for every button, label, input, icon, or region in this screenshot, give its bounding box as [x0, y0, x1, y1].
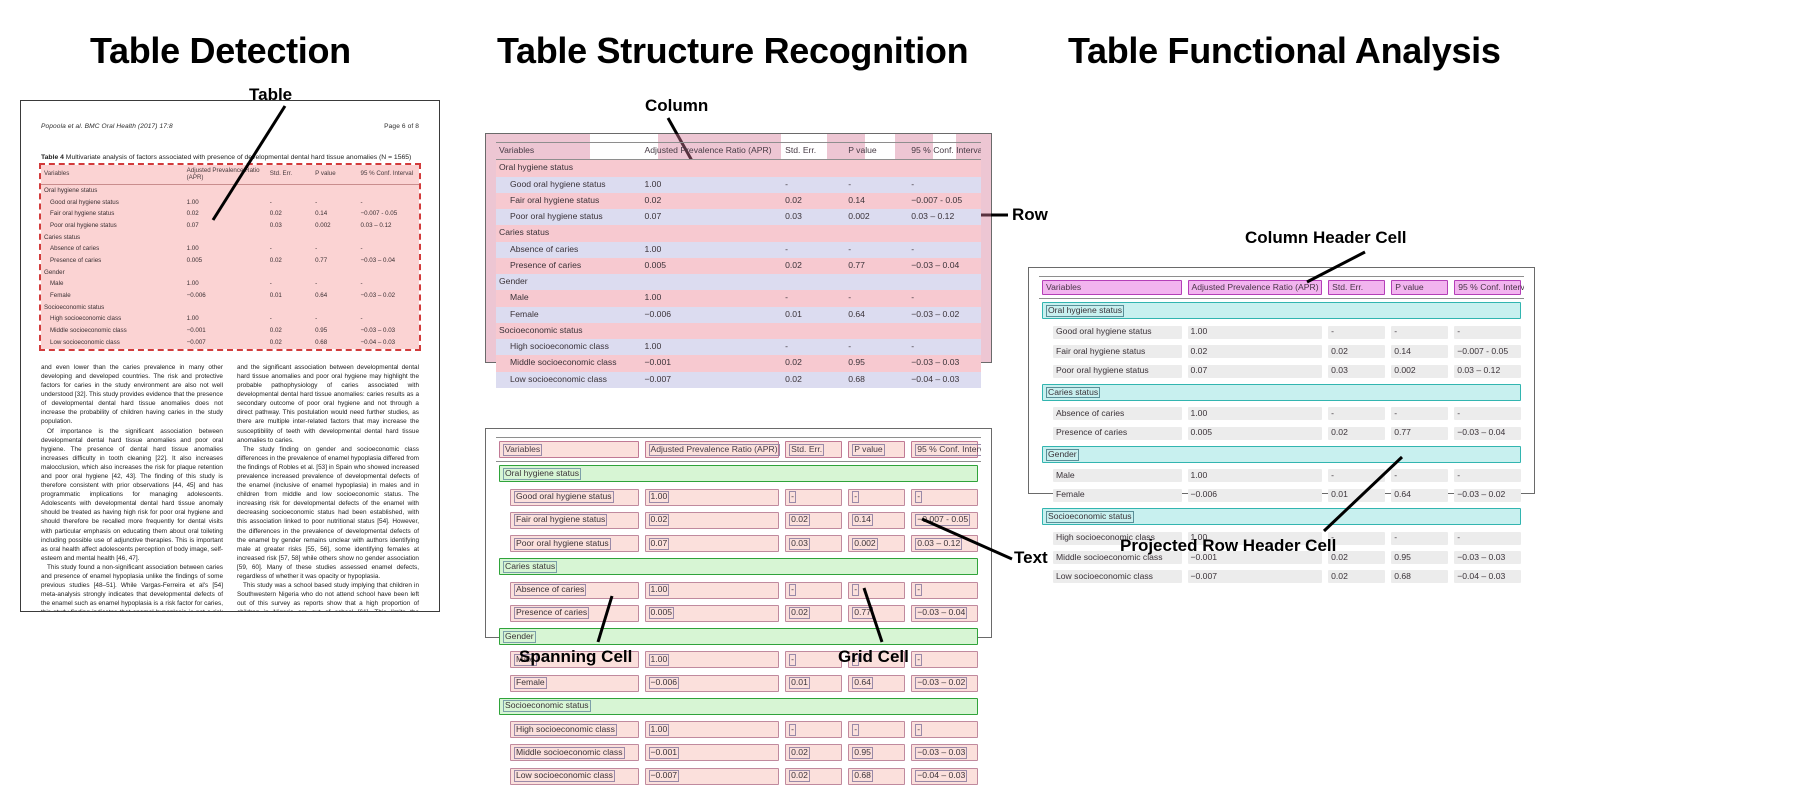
plain-cell-box: 0.02	[1328, 551, 1385, 564]
projected-row-header-cell: Gender	[1039, 443, 1524, 466]
text-cell-box: Presence of caries	[514, 607, 589, 619]
plain-cell-box: -	[1391, 407, 1448, 420]
column-header-cell: P value	[845, 438, 908, 462]
table-cell: 1.00	[185, 314, 268, 326]
table-row: Fair oral hygiene status0.020.020.14−0.0…	[496, 509, 981, 532]
text-cell-box: -	[789, 491, 796, 503]
table-cell: -	[1451, 404, 1524, 423]
table-row: Socioeconomic status	[496, 323, 981, 339]
table-cell: 0.95	[845, 355, 908, 371]
table-row: Absence of caries1.00---	[1039, 404, 1524, 423]
column-header-cell-box: Std. Err.	[1328, 280, 1385, 295]
table-cell: 0.95	[1388, 548, 1451, 567]
table-cell: 0.95	[845, 741, 908, 764]
plain-cell-box: 1.00	[1188, 326, 1323, 339]
table-cell: 1.00	[642, 177, 783, 193]
plain-cell-box: -	[1391, 532, 1448, 545]
table-cell: 0.14	[313, 209, 358, 221]
table-cell: -	[908, 718, 981, 741]
table-cell: 0.02	[782, 355, 845, 371]
plain-cell-box: Female	[1053, 489, 1182, 502]
table-header-row: VariablesAdjusted Prevalence Ratio (APR)…	[41, 165, 419, 184]
table-cell	[845, 274, 908, 290]
table-cell: 0.03 – 0.12	[908, 532, 981, 555]
row-header-cell: Absence of caries	[1039, 404, 1185, 423]
table-cell: 0.03 – 0.12	[359, 220, 420, 232]
structure-cells-grid: VariablesAdjusted Prevalence Ratio (APR)…	[496, 437, 981, 788]
table-cell: -	[313, 314, 358, 326]
table-row: Good oral hygiene status1.00---	[41, 197, 419, 209]
table-cell	[313, 267, 358, 279]
table-cell: 0.77	[845, 258, 908, 274]
table-header-row: VariablesAdjusted Prevalence Ratio (APR)…	[1039, 277, 1524, 299]
table-cell: 0.68	[845, 372, 908, 388]
plain-cell-box: Low socioeconomic class	[1053, 570, 1182, 583]
table-cell	[908, 323, 981, 339]
text-cell-box: Adjusted Prevalence Ratio (APR)	[649, 444, 780, 456]
table-cell: 1.00	[1185, 466, 1326, 485]
table-cell: 1.00	[642, 648, 783, 671]
table-cell: -	[782, 177, 845, 193]
plain-cell-box: 0.77	[1391, 427, 1448, 440]
table-cell: 1.00	[185, 244, 268, 256]
table-cell: 0.02	[268, 337, 313, 349]
row-header-cell: Socioeconomic status	[41, 302, 185, 314]
table-span-row: Caries status	[496, 555, 981, 578]
table-cell: 0.02	[1325, 342, 1388, 361]
table-row: Middle socioeconomic class−0.0010.020.95…	[41, 326, 419, 338]
row-header-cell: Absence of caries	[41, 244, 185, 256]
table-cell: -	[268, 314, 313, 326]
table-cell: -	[1388, 466, 1451, 485]
table-cell	[313, 185, 358, 197]
column-header-cell: Adjusted Prevalence Ratio (APR)	[642, 143, 783, 160]
text-cell-box: Variables	[503, 444, 542, 456]
table-row: Absence of caries1.00---	[496, 579, 981, 602]
table-cell: 0.02	[782, 258, 845, 274]
paragraph: Of importance is the significant associa…	[41, 427, 223, 563]
plain-cell-box: -	[1454, 532, 1521, 545]
grid-cell-box: 0.01	[785, 675, 842, 692]
table-cell	[782, 225, 845, 241]
column-header-cell: P value	[845, 143, 908, 160]
grid-cell-box: -	[848, 721, 905, 738]
table-cell: -	[908, 579, 981, 602]
paper-column-left: and even lower than the caries prevalenc…	[41, 363, 223, 612]
text-cell-box: Socioeconomic status	[503, 700, 591, 712]
plain-cell-box: Fair oral hygiene status	[1053, 345, 1182, 358]
paragraph: This study found a non-significant assoc…	[41, 563, 223, 612]
text-cell-box: Caries status	[503, 561, 557, 573]
text-cell-box: 0.02	[789, 514, 810, 526]
column-header-cell: P value	[313, 165, 358, 184]
column-header-cell-box: Adjusted Prevalence Ratio (APR)	[1188, 280, 1323, 295]
plain-cell-box: −0.007 - 0.05	[1454, 345, 1521, 358]
grid-cell-box: -	[785, 582, 842, 599]
table-row: Male1.00---	[496, 290, 981, 306]
table-cell: 0.002	[313, 220, 358, 232]
table-cell: -	[845, 486, 908, 509]
text-cell-box: Low socioeconomic class	[514, 770, 615, 782]
panel-title-table-functional-analysis: Table Functional Analysis	[1068, 30, 1501, 72]
text-cell-box: 0.02	[789, 607, 810, 619]
detected-table-region: VariablesAdjusted Prevalence Ratio (APR)…	[41, 165, 419, 348]
row-header-cell: High socioeconomic class	[496, 339, 642, 355]
table-span-row: Gender	[496, 625, 981, 648]
grid-cell-box: Fair oral hygiene status	[510, 512, 639, 529]
table-cell: 0.02	[782, 602, 845, 625]
row-header-cell: Middle socioeconomic class	[496, 355, 642, 371]
spanning-cell: Caries status	[496, 555, 981, 578]
plain-cell-box: 0.02	[1328, 427, 1385, 440]
paper-running-head: Popoola et al. BMC Oral Health (2017) 17…	[41, 123, 419, 130]
table-cell: 0.14	[845, 193, 908, 209]
table-row: Middle socioeconomic class−0.0010.020.95…	[496, 355, 981, 371]
table-cell: −0.007 - 0.05	[908, 509, 981, 532]
table-cell: -	[1388, 404, 1451, 423]
plain-cell-box: −0.006	[1188, 489, 1323, 502]
text-cell-box: 0.02	[649, 514, 670, 526]
table-cell: -	[1325, 323, 1388, 342]
plain-cell-box: Good oral hygiene status	[1053, 326, 1182, 339]
grid-cell-box: -	[911, 651, 978, 668]
projected-row-header-cell: Caries status	[1039, 381, 1524, 404]
text-cell-box: 0.95	[852, 747, 873, 759]
table-caption-text: Multivariate analysis of factors associa…	[64, 154, 411, 161]
table-cell: -	[268, 279, 313, 291]
text-cell-box: Socioeconomic status	[1046, 511, 1134, 523]
text-cell-box: Absence of caries	[514, 584, 586, 596]
spanning-cell-box: Gender	[499, 628, 978, 645]
table-row: Fair oral hygiene status0.020.020.14−0.0…	[496, 193, 981, 209]
text-cell-box: 0.03	[789, 538, 810, 550]
text-cell-box: -	[852, 724, 859, 736]
table-row: Good oral hygiene status1.00---	[496, 177, 981, 193]
text-cell-box: 1.00	[649, 724, 670, 736]
table-cell: -	[313, 279, 358, 291]
table-cell	[908, 160, 981, 177]
table-cell: 0.02	[642, 509, 783, 532]
grid-cell-box: -	[785, 651, 842, 668]
table-span-row: Oral hygiene status	[1039, 299, 1524, 323]
table-cell	[185, 185, 268, 197]
column-header-cell: Variables	[41, 165, 185, 184]
table-cell: 1.00	[642, 242, 783, 258]
table-row: Poor oral hygiene status0.070.030.0020.0…	[1039, 361, 1524, 380]
table-row: Oral hygiene status	[496, 160, 981, 177]
plain-cell-box: -	[1391, 326, 1448, 339]
table-span-row: Oral hygiene status	[496, 462, 981, 486]
table-cell: 1.00	[642, 718, 783, 741]
text-cell-box: 0.02	[789, 747, 810, 759]
table-cell: 1.00	[642, 579, 783, 602]
text-cell-box: 95 % Conf. Interval	[915, 444, 981, 456]
table-cell	[359, 302, 420, 314]
callout-label-row: Row	[1012, 205, 1048, 225]
table-cell: −0.03 – 0.02	[359, 290, 420, 302]
table-cell: 0.02	[268, 255, 313, 267]
table-cell: 0.77	[1388, 424, 1451, 443]
plain-cell-box: -	[1454, 469, 1521, 482]
table-cell: −0.001	[185, 326, 268, 338]
table-cell: −0.007	[642, 765, 783, 788]
callout-label-grid-cell: Grid Cell	[838, 647, 909, 667]
row-header-cell: Female	[496, 307, 642, 323]
table-cell: -	[782, 718, 845, 741]
grid-cell-box: −0.007 - 0.05	[911, 512, 978, 529]
row-header-cell: Poor oral hygiene status	[496, 209, 642, 225]
table-cell	[268, 302, 313, 314]
text-cell-box: −0.001	[649, 747, 680, 759]
table-cell: 0.01	[268, 290, 313, 302]
row-header-cell: Caries status	[496, 225, 642, 241]
row-header-cell: Presence of caries	[496, 602, 642, 625]
grid-cell-box: 95 % Conf. Interval	[911, 441, 978, 458]
table-cell: 0.005	[185, 255, 268, 267]
grid-cell-box: -	[785, 489, 842, 506]
row-header-cell: Good oral hygiene status	[496, 486, 642, 509]
table-cell: -	[359, 314, 420, 326]
table-cell: 0.07	[1185, 361, 1326, 380]
table-cell: -	[908, 290, 981, 306]
table-cell	[313, 302, 358, 314]
table-cell: 0.005	[1185, 424, 1326, 443]
table-cell: −0.007 - 0.05	[908, 193, 981, 209]
table-cell: 0.01	[1325, 486, 1388, 505]
table-cell: 0.02	[1325, 567, 1388, 586]
table-cell	[642, 274, 783, 290]
grid-cell-box: −0.001	[645, 744, 780, 761]
table-cell: −0.006	[185, 290, 268, 302]
spanning-cell-box: Caries status	[499, 558, 978, 575]
plain-cell-box: -	[1328, 407, 1385, 420]
plain-cell-box: -	[1328, 532, 1385, 545]
table-cell: 0.01	[782, 672, 845, 695]
table-cell: 0.64	[313, 290, 358, 302]
table-cell: −0.03 – 0.02	[908, 672, 981, 695]
plain-cell-box: Absence of caries	[1053, 407, 1182, 420]
table-row: High socioeconomic class1.00---	[41, 314, 419, 326]
row-header-cell: Good oral hygiene status	[496, 177, 642, 193]
grid-cell-box: Adjusted Prevalence Ratio (APR)	[645, 441, 780, 458]
column-header-cell: Std. Err.	[268, 165, 313, 184]
projected-row-header-cell-box: Oral hygiene status	[1042, 302, 1521, 319]
plain-cell-box: −0.03 – 0.04	[1454, 427, 1521, 440]
row-header-cell: Low socioeconomic class	[496, 372, 642, 388]
table-cell: 0.07	[185, 220, 268, 232]
table-cell: 0.02	[782, 193, 845, 209]
text-cell-box: Gender	[503, 631, 536, 643]
table-cell: -	[845, 579, 908, 602]
table-cell: −0.03 – 0.04	[908, 258, 981, 274]
plain-cell-box: -	[1454, 326, 1521, 339]
table-row: Low socioeconomic class−0.0070.020.68−0.…	[496, 765, 981, 788]
column-header-cell: 95 % Conf. Interval	[359, 165, 420, 184]
running-head-citation: Popoola et al. BMC Oral Health (2017) 17…	[41, 123, 173, 130]
table-cell: −0.007	[642, 372, 783, 388]
table-cell	[313, 232, 358, 244]
grid-cell-box: Female	[510, 675, 639, 692]
table-cell: -	[782, 648, 845, 671]
table-row: Middle socioeconomic class−0.0010.020.95…	[496, 741, 981, 764]
text-cell-box: 1.00	[649, 584, 670, 596]
grid-cell-box: Absence of caries	[510, 582, 639, 599]
table-cell: 0.68	[845, 765, 908, 788]
structure-cells-table: VariablesAdjusted Prevalence Ratio (APR)…	[485, 428, 992, 638]
text-cell-box: -	[915, 654, 922, 666]
grid-cell-box: Good oral hygiene status	[510, 489, 639, 506]
table-row: Caries status	[496, 225, 981, 241]
row-header-cell: High socioeconomic class	[496, 718, 642, 741]
grid-cell-box: 0.02	[785, 512, 842, 529]
spanning-cell: Gender	[496, 625, 981, 648]
grid-cell-box: -	[911, 721, 978, 738]
projected-row-header-cell: Socioeconomic status	[1039, 505, 1524, 528]
table-cell: -	[359, 244, 420, 256]
panel-title-table-structure-recognition: Table Structure Recognition	[497, 30, 968, 72]
table-span-row: Caries status	[1039, 381, 1524, 404]
table-cell: -	[1451, 323, 1524, 342]
table-cell	[908, 225, 981, 241]
table-cell: 1.00	[1185, 323, 1326, 342]
text-cell-box: 0.02	[789, 770, 810, 782]
table-cell: -	[359, 197, 420, 209]
projected-row-header-cell-box: Caries status	[1042, 384, 1521, 401]
table-cell: 0.03 – 0.12	[908, 209, 981, 225]
table-span-row: Socioeconomic status	[1039, 505, 1524, 528]
text-cell-box: Caries status	[1046, 387, 1100, 399]
table-cell: -	[908, 339, 981, 355]
table-header-row: VariablesAdjusted Prevalence Ratio (APR)…	[496, 143, 981, 160]
table-cell: -	[908, 486, 981, 509]
table-cell: 0.02	[642, 193, 783, 209]
text-cell-box: 0.07	[649, 538, 670, 550]
table-cell	[782, 323, 845, 339]
row-header-cell: Fair oral hygiene status	[1039, 342, 1185, 361]
table-cell: -	[845, 177, 908, 193]
table-cell: -	[782, 290, 845, 306]
table-cell: 1.00	[642, 486, 783, 509]
panel-title-table-detection: Table Detection	[90, 30, 351, 72]
table-cell: 0.02	[268, 209, 313, 221]
table-row: Absence of caries1.00---	[496, 242, 981, 258]
text-cell-box: 0.03 – 0.12	[915, 538, 962, 550]
table-cell: −0.03 – 0.04	[908, 602, 981, 625]
plain-cell-box: -	[1391, 469, 1448, 482]
table-cell: -	[313, 197, 358, 209]
plain-cell-box: 0.64	[1391, 489, 1448, 502]
table-row: Male1.00---	[41, 279, 419, 291]
table-header-row: VariablesAdjusted Prevalence Ratio (APR)…	[496, 438, 981, 462]
callout-label-table: Table	[249, 85, 292, 105]
callout-label-spanning-cell: Spanning Cell	[519, 647, 632, 667]
table-row: Absence of caries1.00---	[41, 244, 419, 256]
paper-body-text: and even lower than the caries prevalenc…	[41, 363, 419, 612]
table-cell: −0.006	[642, 307, 783, 323]
column-header-cell: 95 % Conf. Interval	[908, 143, 981, 160]
table-cell	[185, 267, 268, 279]
column-header-cell: 95 % Conf. Interval	[1451, 277, 1524, 299]
table-cell: 0.03	[1325, 361, 1388, 380]
table-cell: −0.03 – 0.03	[359, 326, 420, 338]
table-row: High socioeconomic class1.00---	[496, 339, 981, 355]
table-cell: 0.03	[782, 209, 845, 225]
grid-cell-box: P value	[848, 441, 905, 458]
plain-cell-box: 0.02	[1188, 345, 1323, 358]
table-row: Presence of caries0.0050.020.77−0.03 – 0…	[496, 602, 981, 625]
row-header-cell: Fair oral hygiene status	[41, 209, 185, 221]
text-cell-box: -	[915, 584, 922, 596]
grid-cell-box: 0.64	[848, 675, 905, 692]
column-header-cell-box: P value	[1391, 280, 1448, 295]
table-cell: -	[908, 648, 981, 671]
paragraph: and even lower than the caries prevalenc…	[41, 363, 223, 427]
table-cell: 0.002	[845, 209, 908, 225]
projected-row-header-cell-box: Socioeconomic status	[1042, 508, 1521, 525]
plain-cell-box: 0.03	[1328, 365, 1385, 378]
table-cell: 0.01	[782, 307, 845, 323]
table-cell	[782, 274, 845, 290]
plain-cell-box: 1.00	[1188, 407, 1323, 420]
plain-cell-box: 0.02	[1328, 570, 1385, 583]
grid-cell-box: -	[911, 489, 978, 506]
row-header-cell: Oral hygiene status	[41, 185, 185, 197]
plain-cell-box: −0.007	[1188, 570, 1323, 583]
table-cell: -	[1325, 404, 1388, 423]
grid-cell-box: -	[848, 489, 905, 506]
grid-cell-box: Std. Err.	[785, 441, 842, 458]
column-header-cell: Adjusted Prevalence Ratio (APR)	[185, 165, 268, 184]
grid-cell-box: High socioeconomic class	[510, 721, 639, 738]
plain-cell-box: 0.01	[1328, 489, 1385, 502]
table-cell: −0.001	[642, 741, 783, 764]
row-header-cell: Male	[1039, 466, 1185, 485]
text-cell-box: −0.007 - 0.05	[915, 514, 970, 526]
callout-label-column: Column	[645, 96, 708, 116]
table-cell: -	[313, 244, 358, 256]
table-cell: 0.68	[1388, 567, 1451, 586]
projected-row-header-cell: Oral hygiene status	[1039, 299, 1524, 323]
text-cell-box: Middle socioeconomic class	[514, 747, 625, 759]
text-cell-box: 0.77	[852, 607, 873, 619]
table-row: Presence of caries0.0050.020.77−0.03 – 0…	[496, 258, 981, 274]
plain-cell-box: 0.14	[1391, 345, 1448, 358]
text-cell-box: P value	[852, 444, 885, 456]
plain-cell-box: −0.03 – 0.02	[1454, 489, 1521, 502]
table-row: Poor oral hygiene status0.070.030.0020.0…	[41, 220, 419, 232]
table-cell: 0.64	[845, 672, 908, 695]
table-cell: −0.03 – 0.04	[1451, 424, 1524, 443]
grid-cell-box: Presence of caries	[510, 605, 639, 622]
table-cell: 0.02	[782, 741, 845, 764]
table-cell: 0.07	[642, 532, 783, 555]
row-header-cell: Socioeconomic status	[496, 323, 642, 339]
table-span-row: Socioeconomic status	[496, 695, 981, 718]
grid-cell-box: 0.14	[848, 512, 905, 529]
table-row: Female−0.0060.010.64−0.03 – 0.02	[496, 307, 981, 323]
row-header-cell: Absence of caries	[496, 579, 642, 602]
table-cell: 0.14	[845, 509, 908, 532]
grid-cell-box: -	[785, 721, 842, 738]
plain-cell-box: -	[1328, 469, 1385, 482]
table-cell	[642, 225, 783, 241]
text-cell-box: -	[852, 584, 859, 596]
plain-cell-box: 0.07	[1188, 365, 1323, 378]
table-cell: -	[268, 244, 313, 256]
table-cell: −0.03 – 0.02	[908, 307, 981, 323]
column-header-cell: Variables	[496, 143, 642, 160]
grid-cell-box: 0.07	[645, 535, 780, 552]
